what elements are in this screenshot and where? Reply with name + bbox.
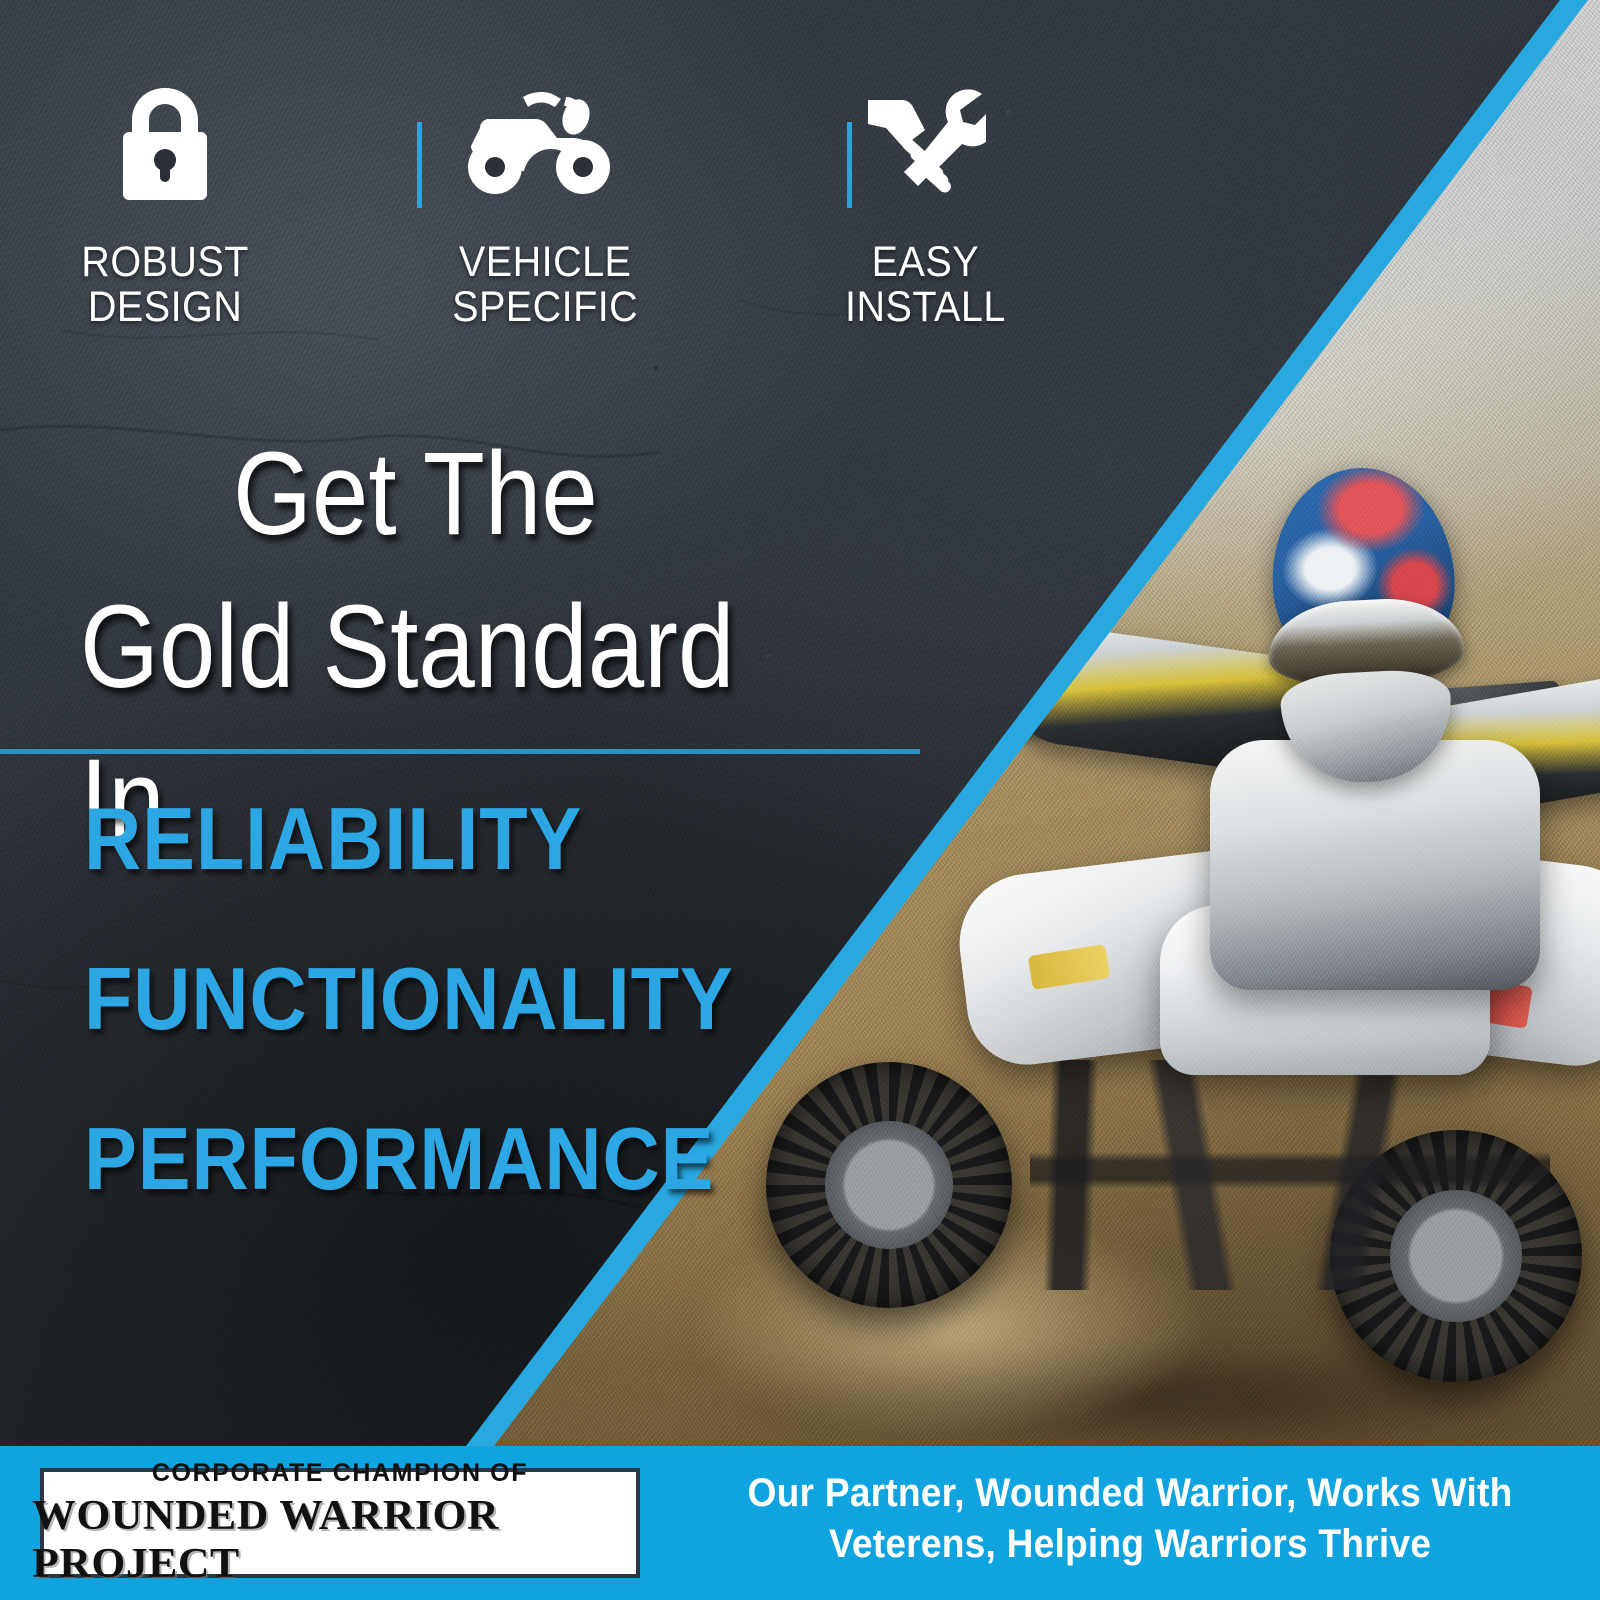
atv-frame bbox=[1030, 1060, 1550, 1290]
logo-top-line: CORPORATE CHAMPION OF bbox=[152, 1459, 528, 1488]
feature-label: EASY INSTALL bbox=[845, 240, 1006, 330]
feature-divider-2 bbox=[847, 122, 852, 208]
logo-main-line: WOUNDED WARRIOR PROJECT bbox=[32, 1492, 648, 1588]
benefit-item: FUNCTIONALITY bbox=[84, 955, 732, 1043]
feature-highlights-row: ROBUST DESIGN VEHICLE SPECIFIC bbox=[0, 84, 1180, 346]
advertisement-banner: ROBUST DESIGN VEHICLE SPECIFIC bbox=[0, 0, 1600, 1600]
feature-vehicle-specific: VEHICLE SPECIFIC bbox=[330, 84, 760, 330]
benefit-item: RELIABILITY bbox=[84, 795, 732, 883]
feature-divider-1 bbox=[417, 122, 422, 208]
padlock-icon bbox=[110, 84, 220, 202]
feature-robust-design: ROBUST DESIGN bbox=[0, 84, 330, 330]
feature-easy-install: EASY INSTALL bbox=[760, 84, 1090, 330]
benefit-item: PERFORMANCE bbox=[84, 1115, 732, 1203]
hand-holding-wrench-icon bbox=[864, 84, 986, 202]
headline-line-1: Get The bbox=[80, 418, 751, 571]
atv-quad-bike-icon bbox=[462, 84, 628, 202]
benefits-list: RELIABILITY FUNCTIONALITY PERFORMANCE bbox=[84, 795, 804, 1275]
feature-label-line1: EASY bbox=[845, 240, 1006, 285]
feature-label-line1: VEHICLE bbox=[452, 240, 638, 285]
feature-label-line1: ROBUST bbox=[81, 240, 249, 285]
feature-label: VEHICLE SPECIFIC bbox=[452, 240, 638, 330]
feature-label-line2: SPECIFIC bbox=[452, 285, 638, 330]
feature-label-line2: DESIGN bbox=[81, 285, 249, 330]
headline-divider-rule bbox=[0, 749, 920, 754]
feature-label-line2: INSTALL bbox=[845, 285, 1006, 330]
wounded-warrior-project-logo: CORPORATE CHAMPION OF WOUNDED WARRIOR PR… bbox=[40, 1468, 640, 1578]
partner-tagline: Our Partner, Wounded Warrior, Works With… bbox=[712, 1468, 1549, 1570]
feature-label: ROBUST DESIGN bbox=[81, 240, 249, 330]
footer-banner: CORPORATE CHAMPION OF WOUNDED WARRIOR PR… bbox=[0, 1446, 1600, 1600]
